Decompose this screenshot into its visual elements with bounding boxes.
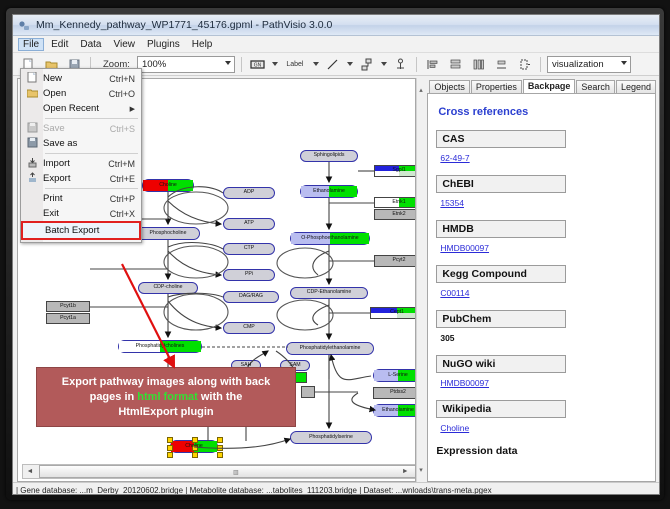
pathway-node-ppi[interactable]: PPi xyxy=(223,269,275,281)
menu-data[interactable]: Data xyxy=(75,38,106,51)
pathway-node-sgpl1[interactable]: Sgpl1 xyxy=(374,165,416,177)
group-icon[interactable] xyxy=(515,55,534,74)
node-label: Pcyt2 xyxy=(393,258,406,263)
toolbar-separator-2 xyxy=(241,57,242,72)
callout-line2-b: with the xyxy=(198,391,243,403)
side-panel-tabs[interactable]: Objects Properties Backpage Search Legen… xyxy=(427,78,656,93)
scroll-right-icon[interactable]: ► xyxy=(398,468,412,475)
menu-plugins[interactable]: Plugins xyxy=(142,38,185,51)
xref-nugo-header: NuGO wiki xyxy=(436,355,566,373)
node-label: Pcyt1b xyxy=(60,304,76,309)
menu-item-accelerator: Ctrl+P xyxy=(110,194,141,204)
menu-item-save-as[interactable]: Save as xyxy=(21,136,141,151)
save-disk-icon xyxy=(21,122,43,135)
pathway-node-atp[interactable]: ATP xyxy=(223,218,275,230)
node-label: Etnk1 xyxy=(392,200,405,205)
expression-data-title: Expression data xyxy=(436,445,647,457)
xref-nugo-link[interactable]: HMDB00097 xyxy=(440,378,489,388)
pathvisio-icon xyxy=(18,19,31,32)
node-label: Cept1 xyxy=(390,310,404,315)
cross-references-title: Cross references xyxy=(438,106,647,118)
node-label: L-Serine xyxy=(388,373,408,378)
callout-line2-green: html format xyxy=(137,391,198,403)
menu-item-accelerator: Ctrl+O xyxy=(109,89,141,99)
xref-chebi-header: ChEBI xyxy=(436,175,566,193)
scroll-left-icon[interactable]: ◄ xyxy=(23,468,37,475)
callout-line-1: Export pathway images along with back xyxy=(62,375,270,390)
node-label: ADP xyxy=(244,190,255,195)
menu-item-label: Save xyxy=(43,123,110,134)
backpage-content: Cross references CAS 62-49-7 ChEBI 15354… xyxy=(427,93,656,482)
menu-item-label: Batch Export xyxy=(45,225,133,236)
menu-item-export[interactable]: ExportCtrl+E xyxy=(21,171,141,186)
pathway-node-l-serine[interactable]: L-Serine xyxy=(373,369,416,382)
visualization-value: visualization xyxy=(552,59,604,70)
save-as-icon xyxy=(21,137,43,150)
side-panel: Objects Properties Backpage Search Legen… xyxy=(427,78,656,482)
pathway-node-ptdserine[interactable]: Phosphatidylserine xyxy=(290,431,372,444)
menu-item-label: Import xyxy=(43,158,108,169)
window-title: Mm_Kennedy_pathway_WP1771_45176.gpml - P… xyxy=(36,19,332,31)
application-window: Mm_Kennedy_pathway_WP1771_45176.gpml - P… xyxy=(12,14,660,495)
menu-item-accelerator: Ctrl+X xyxy=(110,209,141,219)
selection-handle[interactable] xyxy=(167,452,173,458)
splitter-arrow-up-icon[interactable]: ▴ xyxy=(419,86,423,94)
xref-kegg: Kegg Compound C00114 xyxy=(436,265,647,301)
visualization-combobox[interactable]: visualization xyxy=(547,56,631,73)
align-center-icon[interactable] xyxy=(446,55,465,74)
xref-hmdb: HMDB HMDB00097 xyxy=(436,220,647,256)
node-label: Phosphatidylserine xyxy=(309,435,353,440)
tab-backpage[interactable]: Backpage xyxy=(523,79,576,93)
menu-item-print[interactable]: PrintCtrl+P xyxy=(21,191,141,206)
zoom-value: 100% xyxy=(142,59,166,70)
node-label: Ethanolamine xyxy=(313,189,345,194)
pathway-node-choline-top[interactable]: Choline xyxy=(142,179,194,192)
menu-item-open-recent[interactable]: Open Recent▶ xyxy=(21,101,141,116)
pathway-node-cdp-etn[interactable]: CDP-Ethanolamine xyxy=(290,287,368,299)
align-left-icon[interactable] xyxy=(423,55,442,74)
menu-item-exit[interactable]: ExitCtrl+X xyxy=(21,206,141,221)
xref-hmdb-header: HMDB xyxy=(436,220,566,238)
node-label: Phosphatidylethanolamine xyxy=(300,346,361,351)
selection-handle[interactable] xyxy=(167,445,173,451)
node-label: CMP xyxy=(243,325,255,330)
callout-line-3: HtmlExport plugin xyxy=(118,405,213,420)
menu-item-label: Print xyxy=(43,193,110,204)
tab-objects[interactable]: Objects xyxy=(429,80,470,93)
xref-cas: CAS 62-49-7 xyxy=(436,130,647,166)
menu-item-label: Open Recent xyxy=(43,103,130,114)
pathway-node-ethanolamine-2[interactable]: Ethanolamine xyxy=(373,404,416,417)
scrollbar-grip-icon: ▥ xyxy=(233,469,239,476)
menu-bar[interactable]: File Edit Data View Plugins Help xyxy=(13,36,659,53)
menu-item-label: Exit xyxy=(43,208,110,219)
chevron-down-icon xyxy=(225,61,231,65)
xref-chebi: ChEBI 15354 xyxy=(436,175,647,211)
callout-line-2: pages in html format with the xyxy=(90,390,243,405)
selection-handle[interactable] xyxy=(167,437,173,443)
menu-item-label: Save as xyxy=(43,138,135,149)
menu-item-label: New xyxy=(43,73,109,84)
status-text: | Gene database: ...m_Derby_20120602.bri… xyxy=(16,486,492,495)
pathway-node-o-phospho[interactable]: O-Phosphoethanolamine xyxy=(290,232,370,245)
pathway-node-pcyt1a[interactable]: Pcyt1a xyxy=(46,313,90,324)
xref-wikipedia-link[interactable]: Choline xyxy=(440,423,469,433)
menu-item-label: Export xyxy=(43,173,110,184)
xref-chebi-link[interactable]: 15354 xyxy=(440,198,464,208)
panel-splitter[interactable]: ▴ ▾ xyxy=(416,78,425,482)
data-node-dropdown-icon[interactable] xyxy=(272,62,278,66)
selection-handle[interactable] xyxy=(217,437,223,443)
pathway-node-phosphocholine[interactable]: Phosphocholine xyxy=(136,227,200,240)
menu-item-save: SaveCtrl+S xyxy=(21,121,141,136)
menu-file[interactable]: File xyxy=(18,38,44,51)
menu-view[interactable]: View xyxy=(108,38,140,51)
xref-kegg-header: Kegg Compound xyxy=(436,265,566,283)
annotation-callout: Export pathway images along with back pa… xyxy=(36,367,296,427)
pathway-node-ethanolamine-1[interactable]: Ethanolamine xyxy=(300,185,358,198)
line-dropdown-icon[interactable] xyxy=(347,62,353,66)
xref-pubchem-value: 305 xyxy=(440,333,454,343)
xref-cas-link[interactable]: 62-49-7 xyxy=(440,153,469,163)
pathway-node-ctp[interactable]: CTP xyxy=(223,243,275,255)
export-icon xyxy=(21,172,43,185)
xref-wikipedia-header: Wikipedia xyxy=(436,400,566,418)
callout-line2-a: pages in xyxy=(90,391,138,403)
tab-legend[interactable]: Legend xyxy=(616,80,656,93)
node-label: CDP-choline xyxy=(153,285,182,290)
xref-pubchem-header: PubChem xyxy=(436,310,566,328)
label-dropdown-icon[interactable] xyxy=(313,62,319,66)
pathway-node-pcyt1b[interactable]: Pcyt1b xyxy=(46,301,90,312)
line-icon[interactable] xyxy=(323,55,342,74)
node-label: Phosphocholine xyxy=(150,231,187,236)
node-label: Choline xyxy=(185,444,203,449)
menu-item-open[interactable]: OpenCtrl+O xyxy=(21,86,141,101)
node-label: CTP xyxy=(244,246,254,251)
pathway-node-sphingolipids[interactable]: Sphingolipids xyxy=(300,150,358,162)
new-document-icon xyxy=(21,72,43,85)
pathway-node-ptdcholines[interactable]: Phosphatidylcholines xyxy=(118,340,202,353)
xref-pubchem: PubChem 305 xyxy=(436,310,647,346)
splitter-arrow-down-icon[interactable]: ▾ xyxy=(419,466,423,474)
submenu-arrow-icon: ▶ xyxy=(130,105,141,113)
pathway-node-adp[interactable]: ADP xyxy=(223,187,275,199)
canvas-horizontal-scrollbar[interactable]: ◄ ▥ ► xyxy=(22,464,415,479)
shape-connector-icon[interactable] xyxy=(357,55,376,74)
xref-cas-header: CAS xyxy=(436,130,566,148)
pathway-node-ptdetn[interactable]: Phosphatidylethanolamine xyxy=(286,342,374,355)
data-node-icon[interactable]: GN xyxy=(248,55,267,74)
menu-item-new[interactable]: NewCtrl+N xyxy=(21,71,141,86)
menu-item-import[interactable]: ImportCtrl+M xyxy=(21,156,141,171)
menu-help[interactable]: Help xyxy=(187,38,218,51)
pathway-node-cdp-choline[interactable]: CDP-choline xyxy=(138,282,198,294)
node-label: O-Phosphoethanolamine xyxy=(301,236,358,241)
pathway-node-etnk1[interactable]: Etnk1 xyxy=(374,197,416,208)
stack-icon[interactable] xyxy=(492,55,511,74)
node-label: Pcyt1a xyxy=(60,316,76,321)
pathway-node-cept1[interactable]: Cept1 xyxy=(370,307,416,319)
status-bar: | Gene database: ...m_Derby_20120602.bri… xyxy=(13,482,659,495)
pathway-node-dag-rag[interactable]: DAG/RAG xyxy=(223,291,279,303)
pathway-node-pcyt2[interactable]: Pcyt2 xyxy=(374,255,416,267)
anchor-icon[interactable] xyxy=(391,55,410,74)
tab-search[interactable]: Search xyxy=(576,80,615,93)
label-icon[interactable]: Label xyxy=(282,55,308,74)
menu-item-accelerator: Ctrl+E xyxy=(110,174,141,184)
menu-item-accelerator: Ctrl+S xyxy=(110,124,141,134)
svg-text:GN: GN xyxy=(254,62,262,68)
node-label: Sphingolipids xyxy=(314,153,345,158)
distribute-icon[interactable] xyxy=(469,55,488,74)
xref-hmdb-link[interactable]: HMDB00097 xyxy=(440,243,489,253)
node-label: Choline xyxy=(159,183,177,188)
node-label: PPi xyxy=(245,272,253,277)
pathway-node-etnk2[interactable]: Etnk2 xyxy=(374,209,416,220)
node-label: Sgpl1 xyxy=(392,168,405,173)
node-label: Phosphatidylcholines xyxy=(136,344,185,349)
scrollbar-thumb[interactable]: ▥ xyxy=(39,465,416,478)
shape-dropdown-icon[interactable] xyxy=(381,62,387,66)
pathway-node-ptdss2[interactable]: Ptdss2 xyxy=(373,387,416,399)
pathway-node-cmp[interactable]: CMP xyxy=(223,322,275,334)
chevron-down-icon-2 xyxy=(621,61,627,65)
node-label: Ptdss2 xyxy=(390,390,406,395)
node-label: CDP-Ethanolamine xyxy=(307,290,351,295)
menu-item-accelerator: Ctrl+N xyxy=(109,74,141,84)
node-label: Ethanolamine xyxy=(382,408,414,413)
menu-item-accelerator: Ctrl+M xyxy=(108,159,141,169)
menu-separator xyxy=(45,188,138,189)
title-bar: Mm_Kennedy_pathway_WP1771_45176.gpml - P… xyxy=(13,15,659,36)
toolbar-separator-4 xyxy=(540,57,541,72)
menu-item-batch-export[interactable]: Batch Export xyxy=(21,221,141,240)
tab-properties[interactable]: Properties xyxy=(471,80,522,93)
import-icon xyxy=(21,157,43,170)
toolbar-separator-3 xyxy=(416,57,417,72)
node-label: DAG/RAG xyxy=(239,294,263,299)
node-label: Etnk2 xyxy=(392,212,405,217)
xref-wikipedia: Wikipedia Choline xyxy=(436,400,647,436)
xref-nugo: NuGO wiki HMDB00097 xyxy=(436,355,647,391)
menu-separator xyxy=(45,153,138,154)
menu-edit[interactable]: Edit xyxy=(46,38,73,51)
menu-separator xyxy=(45,118,138,119)
selection-handle[interactable] xyxy=(217,452,223,458)
open-folder-icon xyxy=(21,87,43,100)
node-label: ATP xyxy=(244,221,254,226)
selection-handle[interactable] xyxy=(192,452,198,458)
selection-handle[interactable] xyxy=(217,445,223,451)
pathway-node-anchor[interactable] xyxy=(301,386,315,398)
zoom-combobox[interactable]: 100% xyxy=(137,56,235,73)
file-menu-dropdown[interactable]: NewCtrl+NOpenCtrl+OOpen Recent▶SaveCtrl+… xyxy=(20,68,142,243)
xref-kegg-link[interactable]: C00114 xyxy=(440,288,469,298)
menu-item-label: Open xyxy=(43,88,109,99)
screen: Mm_Kennedy_pathway_WP1771_45176.gpml - P… xyxy=(0,0,670,509)
label-button-text: Label xyxy=(286,61,303,68)
